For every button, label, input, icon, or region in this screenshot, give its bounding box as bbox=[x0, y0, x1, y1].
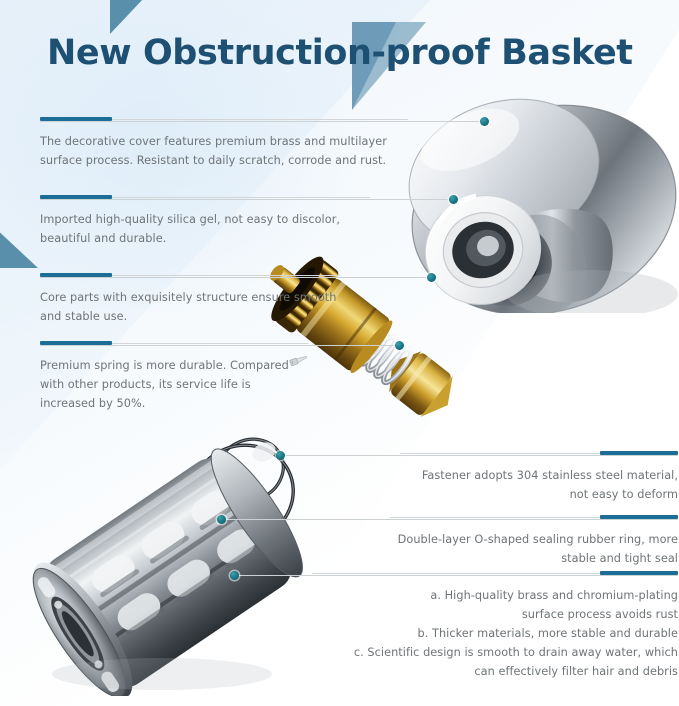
callout-rule-thick bbox=[40, 341, 112, 345]
callout-rule bbox=[40, 341, 308, 347]
callout-line: surface process avoids rust bbox=[312, 605, 678, 624]
callout-fastener: Fastener adopts 304 stainless steel mate… bbox=[400, 451, 678, 504]
callout-premium-spring: Premium spring is more durable. Compared… bbox=[40, 341, 308, 413]
marker-dot-core bbox=[427, 273, 436, 282]
marker-dot-cover bbox=[480, 117, 489, 126]
callout-rule bbox=[390, 515, 678, 521]
callout-rule-thick bbox=[600, 571, 678, 575]
callout-text-lines: a. High-quality brass and chromium-plati… bbox=[312, 586, 678, 681]
marker-dot-basket bbox=[230, 571, 239, 580]
callout-text: The decorative cover features premium br… bbox=[40, 132, 408, 170]
callout-sealing-ring: Double-layer O-shaped sealing rubber rin… bbox=[390, 515, 678, 568]
callout-line: c. Scientific design is smooth to drain … bbox=[312, 643, 678, 662]
callout-text: Imported high-quality silica gel, not ea… bbox=[40, 210, 370, 248]
callout-rule-thick bbox=[40, 117, 112, 121]
callout-line: can effectively filter hair and debris bbox=[312, 662, 678, 681]
callout-core-parts: Core parts with exquisitely structure en… bbox=[40, 273, 340, 326]
callout-decorative-cover: The decorative cover features premium br… bbox=[40, 117, 408, 170]
callout-text: Double-layer O-shaped sealing rubber rin… bbox=[390, 530, 678, 568]
callout-text: Premium spring is more durable. Compared… bbox=[40, 356, 308, 413]
callout-rule bbox=[312, 571, 678, 577]
callout-rule bbox=[40, 273, 340, 279]
infographic-canvas: New Obstruction-proof Basket bbox=[0, 0, 679, 706]
callout-basket-benefits: a. High-quality brass and chromium-plati… bbox=[312, 571, 678, 681]
callout-rule bbox=[40, 117, 408, 123]
callout-rule bbox=[40, 195, 370, 201]
marker-dot-silicone bbox=[449, 195, 458, 204]
callout-text: Core parts with exquisitely structure en… bbox=[40, 288, 340, 326]
callout-silica-gel: Imported high-quality silica gel, not ea… bbox=[40, 195, 370, 248]
callout-rule-thick bbox=[600, 515, 678, 519]
marker-dot-spring bbox=[395, 341, 404, 350]
callout-rule-thick bbox=[40, 273, 112, 277]
marker-dot-oring bbox=[217, 515, 226, 524]
page-title: New Obstruction-proof Basket bbox=[47, 33, 633, 73]
callout-text: Fastener adopts 304 stainless steel mate… bbox=[400, 466, 678, 504]
callout-rule-thick bbox=[40, 195, 112, 199]
callout-line: a. High-quality brass and chromium-plati… bbox=[312, 586, 678, 605]
callout-rule bbox=[400, 451, 678, 457]
marker-dot-fastener bbox=[276, 451, 285, 460]
callout-line: b. Thicker materials, more stable and du… bbox=[312, 624, 678, 643]
callout-rule-thick bbox=[600, 451, 678, 455]
